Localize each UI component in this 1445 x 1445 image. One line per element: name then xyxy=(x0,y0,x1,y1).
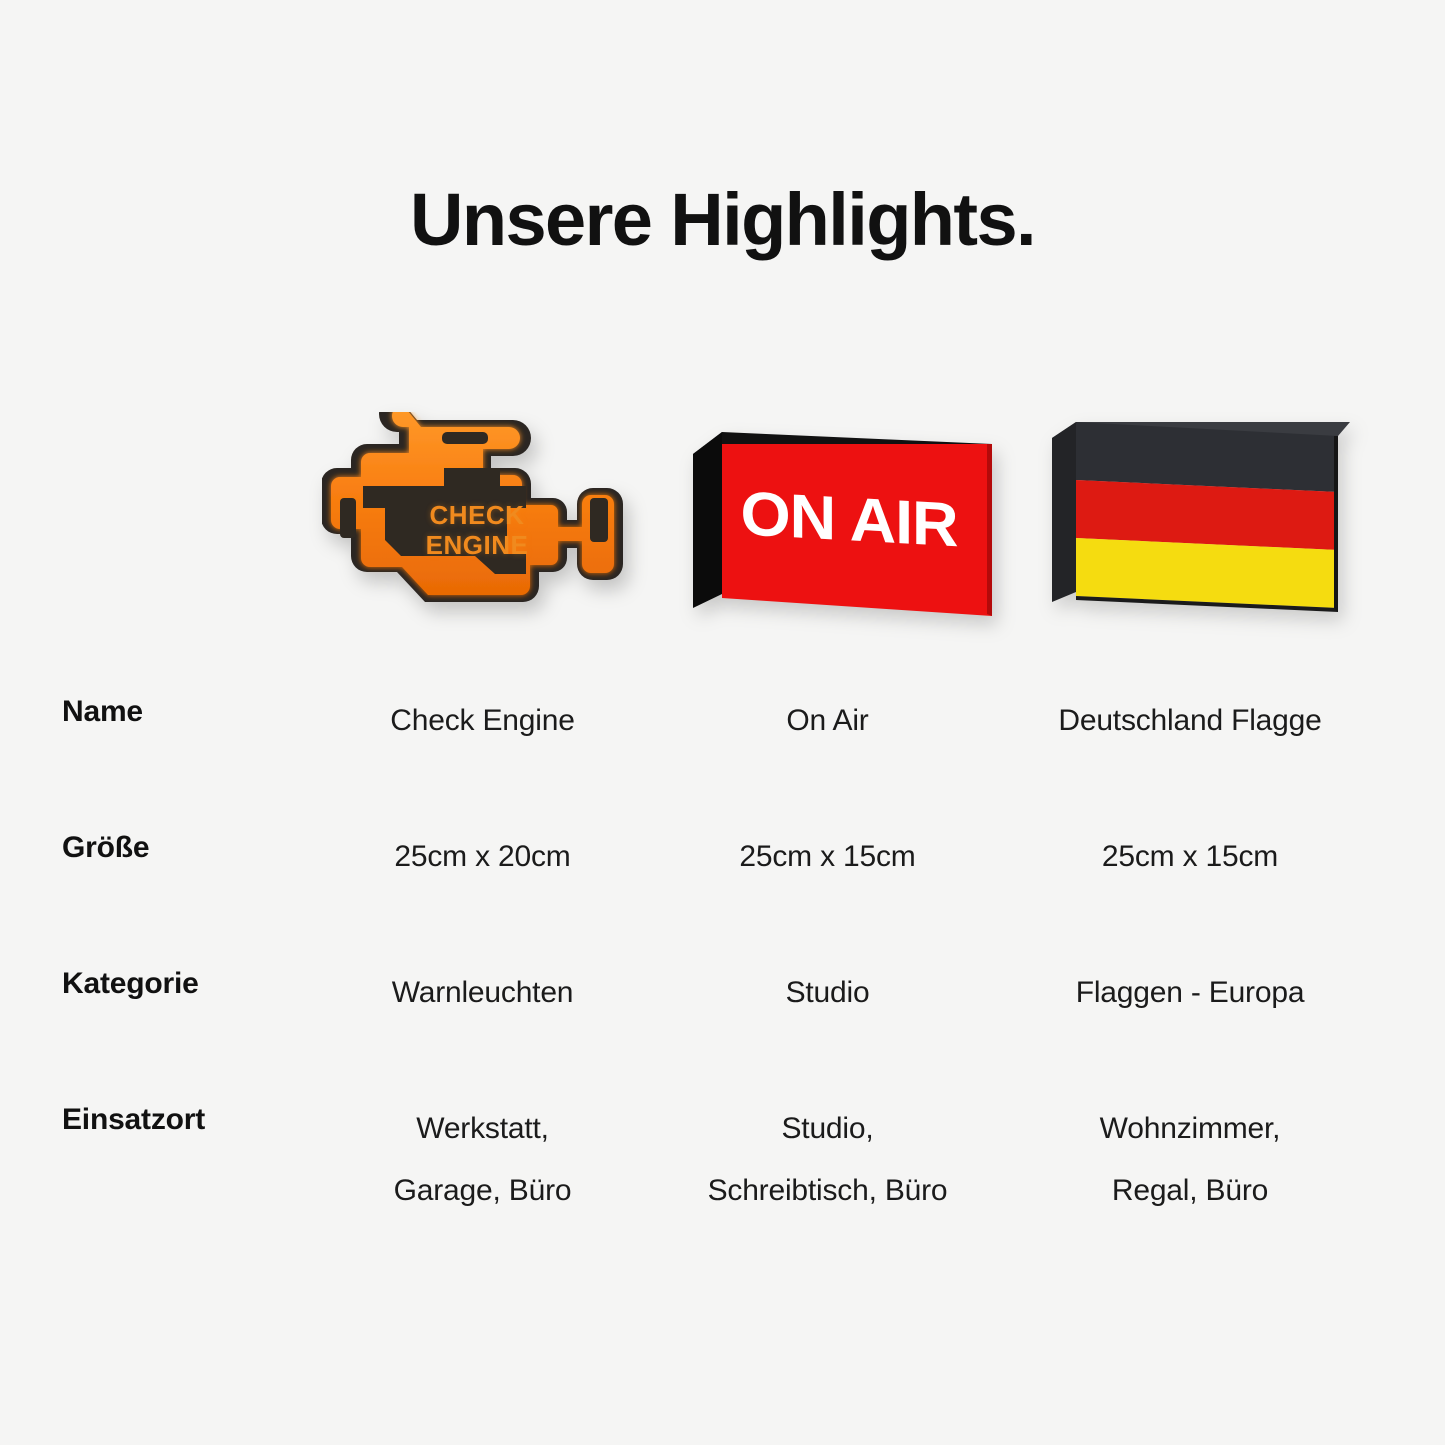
german-flag-svg xyxy=(1042,416,1372,631)
check-engine-lamp-icon: CHECK ENGINE xyxy=(322,412,632,642)
row-label-einsatzort: Einsatzort xyxy=(0,1098,310,1142)
cell-name-on-air: On Air xyxy=(655,690,1000,752)
cell-name-deutschland-flagge: Deutschland Flagge xyxy=(1000,690,1380,752)
product-image-on-air[interactable]: ON AIR xyxy=(665,400,1010,670)
product-image-check-engine[interactable]: CHECK ENGINE xyxy=(310,400,655,670)
spec-table: Name Check Engine On Air Deutschland Fla… xyxy=(0,690,1445,1222)
cell-kategorie-check-engine: Warnleuchten xyxy=(310,962,655,1024)
on-air-lightbox-icon: ON AIR xyxy=(687,426,992,626)
product-image-row: CHECK ENGINE ON AIR xyxy=(0,400,1445,670)
row-label-groesse: Größe xyxy=(0,826,310,870)
cell-groesse-deutschland-flagge: 25cm x 15cm xyxy=(1000,826,1380,888)
table-row: Kategorie Warnleuchten Studio Flaggen - … xyxy=(0,962,1445,1024)
table-row: Name Check Engine On Air Deutschland Fla… xyxy=(0,690,1445,752)
cell-einsatzort-on-air: Studio, Schreibtisch, Büro xyxy=(655,1098,1000,1222)
cell-groesse-check-engine: 25cm x 20cm xyxy=(310,826,655,888)
table-row: Größe 25cm x 20cm 25cm x 15cm 25cm x 15c… xyxy=(0,826,1445,888)
page-title: Unsere Highlights. xyxy=(0,181,1445,259)
cell-einsatzort-deutschland-flagge: Wohnzimmer, Regal, Büro xyxy=(1000,1098,1380,1222)
cell-kategorie-on-air: Studio xyxy=(655,962,1000,1024)
table-row: Einsatzort Werkstatt, Garage, Büro Studi… xyxy=(0,1098,1445,1222)
check-engine-svg xyxy=(322,412,632,642)
on-air-svg xyxy=(687,426,992,626)
product-image-deutschland-flagge[interactable] xyxy=(1020,400,1400,670)
german-flag-lightbox-icon xyxy=(1042,416,1372,631)
row-label-name: Name xyxy=(0,690,310,734)
cell-einsatzort-check-engine: Werkstatt, Garage, Büro xyxy=(310,1098,655,1222)
cell-name-check-engine: Check Engine xyxy=(310,690,655,752)
cell-groesse-on-air: 25cm x 15cm xyxy=(655,826,1000,888)
cell-kategorie-deutschland-flagge: Flaggen - Europa xyxy=(1000,962,1380,1024)
row-label-kategorie: Kategorie xyxy=(0,962,310,1006)
highlights-page: Unsere Highlights. xyxy=(0,0,1445,1445)
